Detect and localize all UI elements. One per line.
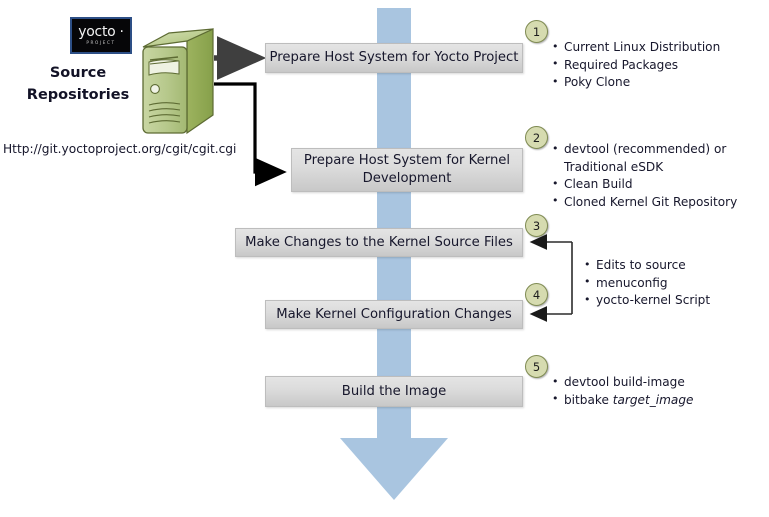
step-badge-3: 3: [525, 214, 548, 237]
list-item: menuconfig: [583, 275, 710, 293]
yocto-project-logo: yocto · PROJECT: [70, 17, 132, 54]
bitbake-target-image-arg: target_image: [613, 393, 694, 407]
process-box-step2-line1: Prepare Host System for Kernel: [304, 152, 510, 170]
bullet-list-steps-3-4: Edits to source menuconfig yocto-kernel …: [583, 257, 710, 310]
process-box-step2[interactable]: Prepare Host System for Kernel Developme…: [291, 148, 523, 192]
list-item: yocto-kernel Script: [583, 292, 710, 310]
process-box-step3[interactable]: Make Changes to the Kernel Source Files: [235, 228, 523, 257]
bullet-list-step5: devtool build-image bitbake target_image: [551, 374, 693, 409]
source-label-line1: Source: [18, 62, 138, 84]
process-box-step1[interactable]: Prepare Host System for Yocto Project: [265, 43, 523, 73]
list-item: devtool build-image: [551, 374, 693, 392]
list-item: Cloned Kernel Git Repository: [551, 194, 737, 212]
process-box-step5[interactable]: Build the Image: [265, 376, 523, 407]
list-item: bitbake target_image: [551, 392, 693, 410]
server-tower-icon: [133, 27, 217, 151]
step-badge-5: 5: [525, 355, 548, 378]
step-badge-1: 1: [525, 20, 548, 43]
source-repositories-label: Source Repositories: [18, 62, 138, 107]
bitbake-command-prefix: bitbake: [564, 393, 613, 407]
list-item: Poky Clone: [551, 74, 720, 92]
process-box-step2-line2: Development: [304, 170, 510, 188]
process-box-step4[interactable]: Make Kernel Configuration Changes: [265, 300, 523, 329]
step-badge-4: 4: [525, 283, 548, 306]
workflow-terminal-arrow-icon: [340, 438, 448, 500]
arrow-server-to-step2: [214, 84, 282, 172]
source-label-line2: Repositories: [18, 84, 138, 106]
list-item: Current Linux Distribution: [551, 39, 720, 57]
list-item: Clean Build: [551, 176, 737, 194]
step-badge-2: 2: [525, 126, 548, 149]
workflow-diagram: yocto · PROJECT Source Repositories Http…: [0, 0, 769, 517]
yocto-logo-subtitle: PROJECT: [86, 41, 115, 45]
yocto-logo-wordmark: yocto ·: [78, 25, 123, 39]
list-item: devtool (recommended) or: [551, 141, 737, 159]
bullet-list-step1: Current Linux Distribution Required Pack…: [551, 39, 720, 92]
list-item-continuation: Traditional eSDK: [551, 159, 737, 177]
bullet-list-step2: devtool (recommended) or Traditional eSD…: [551, 141, 737, 211]
list-item: Required Packages: [551, 57, 720, 75]
list-item: Edits to source: [583, 257, 710, 275]
